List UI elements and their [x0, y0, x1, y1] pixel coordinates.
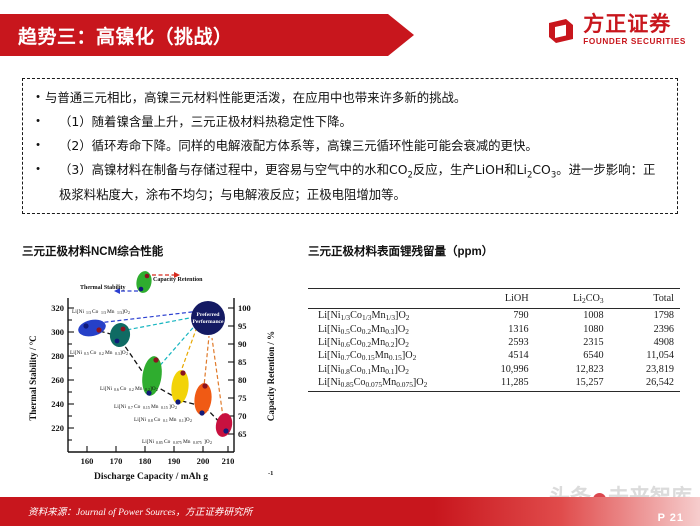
svg-text:220: 220 [51, 423, 64, 433]
svg-text:240: 240 [51, 399, 64, 409]
svg-text:0.5: 0.5 [84, 352, 89, 356]
cell-li2co3: 2315 [535, 336, 610, 349]
svg-text:Li[Ni: Li[Ni [134, 417, 146, 423]
table-row: Li[Ni0.7Co0.15Mn0.15]O24514654011,054 [308, 349, 680, 362]
cell-li2co3: 15,257 [535, 376, 610, 392]
svg-text:90: 90 [238, 339, 247, 349]
svg-text:300: 300 [51, 327, 64, 337]
svg-text:]O: ]O [204, 439, 210, 445]
bullet-marker-icon: • [31, 160, 45, 179]
svg-text:0.6: 0.6 [114, 388, 119, 392]
svg-text:280: 280 [51, 351, 64, 361]
svg-text:Mn: Mn [105, 350, 113, 356]
svg-text:Co: Co [90, 350, 97, 356]
svg-text:85: 85 [238, 357, 247, 367]
svg-text:Mn: Mn [151, 404, 159, 410]
svg-text:210: 210 [222, 456, 235, 466]
svg-text:80: 80 [238, 375, 247, 385]
cell-compound: Li[Ni1/3Co1/3Mn1/3]O2 [308, 309, 464, 323]
table-heading: 三元正极材料表面锂残留量（ppm） [308, 243, 493, 259]
svg-text:160: 160 [81, 456, 94, 466]
figure-heading: 三元正极材料NCM综合性能 [22, 243, 163, 259]
cell-lioh: 2593 [464, 336, 534, 349]
cell-compound: Li[Ni0.7Co0.15Mn0.15]O2 [308, 349, 464, 362]
bullet-text: （3）高镍材料在制备与存储过程中，更容易与空气中的水和CO2反应，生产LiOH和… [45, 160, 665, 204]
svg-text:]O: ]O [169, 404, 175, 410]
svg-text:Performance: Performance [192, 319, 224, 325]
cell-li2co3: 6540 [535, 349, 610, 362]
svg-text:Preferred: Preferred [196, 312, 220, 318]
svg-text:2: 2 [190, 419, 192, 423]
svg-text:0.075: 0.075 [173, 441, 182, 445]
svg-text:Mn: Mn [169, 417, 177, 423]
bullet-marker-icon: • [31, 88, 45, 107]
svg-text:0.2: 0.2 [99, 352, 104, 356]
svg-text:190: 190 [168, 456, 181, 466]
cell-compound: Li[Ni0.5Co0.2Mn0.3]O2 [308, 322, 464, 335]
cell-compound: Li[Ni0.85Co0.075Mn0.075]O2 [308, 376, 464, 392]
cell-total: 26,542 [610, 376, 680, 392]
svg-text:320: 320 [51, 303, 64, 313]
slide-root: 趋势三：高镍化（挑战） 方正证券 FOUNDER SECURITIES •与普通… [0, 0, 700, 526]
cell-li2co3: 1008 [535, 309, 610, 323]
ncm-performance-chart: 320 300 280 260 240 220 Thermal Stabilit… [22, 266, 300, 488]
svg-text:260: 260 [51, 375, 64, 385]
svg-text:Mn: Mn [135, 386, 143, 392]
col-header-compound [308, 289, 464, 309]
svg-text:Li[Ni: Li[Ni [72, 309, 84, 315]
svg-text:Capacity Retention / %: Capacity Retention / % [266, 331, 276, 421]
cell-lioh: 1316 [464, 322, 534, 335]
bullet-item: •（3）高镍材料在制备与存储过程中，更容易与空气中的水和CO2反应，生产LiOH… [31, 160, 665, 204]
svg-text:Co: Co [134, 404, 141, 410]
bullet-list: •与普通三元相比，高镍三元材料性能更活泼，在应用中也带来许多新的挑战。•（1）随… [31, 88, 665, 204]
table-header-row: LiOH Li2CO3 Total [308, 289, 680, 309]
table-row: Li[Ni0.6Co0.2Mn0.2]O2259323154908 [308, 336, 680, 349]
svg-text:0.2: 0.2 [129, 388, 134, 392]
svg-text:0.7: 0.7 [128, 406, 133, 410]
table-body: Li[Ni1/3Co1/3Mn1/3]O279010081798Li[Ni0.5… [308, 309, 680, 392]
svg-text:0.1: 0.1 [163, 419, 168, 423]
key-points-box: •与普通三元相比，高镍三元材料性能更活泼，在应用中也带来许多新的挑战。•（1）随… [22, 78, 678, 214]
svg-text:0.15: 0.15 [143, 406, 150, 410]
svg-text:170: 170 [110, 456, 123, 466]
bullet-marker-icon: • [31, 112, 45, 131]
lithium-residue-table-wrap: LiOH Li2CO3 Total Li[Ni1/3Co1/3Mn1/3]O27… [308, 288, 680, 392]
preferred-performance-marker [191, 301, 225, 335]
cell-li2co3: 1080 [535, 322, 610, 335]
bullet-text: （1）随着镍含量上升，三元正极材料热稳定性下降。 [45, 112, 665, 131]
lithium-residue-table: LiOH Li2CO3 Total Li[Ni1/3Co1/3Mn1/3]O27… [308, 288, 680, 392]
svg-text:Thermal Stability / °C: Thermal Stability / °C [28, 335, 38, 420]
cell-compound: Li[Ni0.8Co0.1Mn0.1]O2 [308, 363, 464, 376]
table-row: Li[Ni0.5Co0.2Mn0.3]O2131610802396 [308, 322, 680, 335]
page-number: P 21 [658, 512, 684, 524]
svg-text:Discharge Capacity / mAh g: Discharge Capacity / mAh g [94, 472, 208, 482]
logo-text-cn: 方正证券 [583, 14, 671, 36]
svg-text:]O: ]O [150, 386, 156, 392]
svg-text:75: 75 [238, 393, 247, 403]
svg-text:Mn: Mn [107, 309, 115, 315]
bullet-text: （2）循环寿命下降。同样的电解液配方体系等，高镍三元循环性能可能会衰减的更快。 [45, 136, 665, 155]
svg-text:Co: Co [120, 386, 127, 392]
bullet-item: •与普通三元相比，高镍三元材料性能更活泼，在应用中也带来许多新的挑战。 [31, 88, 665, 107]
svg-text:95: 95 [238, 321, 247, 331]
svg-text:Mn: Mn [183, 439, 191, 445]
svg-text:0.85: 0.85 [156, 441, 163, 445]
cell-lioh: 10,996 [464, 363, 534, 376]
cell-total: 1798 [610, 309, 680, 323]
svg-text:2: 2 [175, 406, 177, 410]
cell-total: 11,054 [610, 349, 680, 362]
cell-li2co3: 12,823 [535, 363, 610, 376]
svg-text:2: 2 [210, 441, 212, 445]
chart-svg: 320 300 280 260 240 220 Thermal Stabilit… [22, 266, 300, 488]
svg-text:Co: Co [154, 417, 161, 423]
svg-text:Co: Co [92, 309, 99, 315]
cell-lioh: 11,285 [464, 376, 534, 392]
svg-text:-1: -1 [268, 470, 273, 477]
svg-text:Li[Ni: Li[Ni [70, 350, 82, 356]
svg-text:Co: Co [164, 439, 171, 445]
svg-text:]O: ]O [122, 309, 128, 315]
svg-text:Li[Ni: Li[Ni [114, 404, 126, 410]
founder-logo-icon [546, 16, 576, 46]
bullet-text: 与普通三元相比，高镍三元材料性能更活泼，在应用中也带来许多新的挑战。 [45, 88, 665, 107]
svg-text:65: 65 [238, 429, 247, 439]
bullet-marker-icon: • [31, 136, 45, 155]
bullet-item: •（2）循环寿命下降。同样的电解液配方体系等，高镍三元循环性能可能会衰减的更快。 [31, 136, 665, 155]
cell-total: 23,819 [610, 363, 680, 376]
svg-text:0.8: 0.8 [148, 419, 153, 423]
svg-text:]O: ]O [184, 417, 190, 423]
table-row: Li[Ni1/3Co1/3Mn1/3]O279010081798 [308, 309, 680, 323]
cell-lioh: 4514 [464, 349, 534, 362]
col-header-lioh: LiOH [464, 289, 534, 309]
footer-bar: 资料来源：Journal of Power Sources，方正证券研究所 P … [0, 497, 700, 526]
svg-text:2: 2 [156, 388, 158, 392]
svg-text:2: 2 [126, 352, 128, 356]
svg-text:70: 70 [238, 411, 247, 421]
svg-text:Li[Ni: Li[Ni [142, 439, 154, 445]
svg-text:]O: ]O [120, 350, 126, 356]
svg-text:Capacity Retention: Capacity Retention [153, 277, 203, 283]
svg-text:100: 100 [238, 303, 251, 313]
svg-text:1/3: 1/3 [86, 311, 91, 315]
table-row: Li[Ni0.8Co0.1Mn0.1]O210,99612,82323,819 [308, 363, 680, 376]
svg-text:1/3: 1/3 [101, 311, 106, 315]
page-title: 趋势三：高镍化（挑战） [0, 22, 233, 49]
svg-text:Thermal Stability: Thermal Stability [80, 285, 126, 291]
svg-text:0.075: 0.075 [193, 441, 202, 445]
source-citation: 资料来源：Journal of Power Sources，方正证券研究所 [28, 504, 252, 518]
logo-text-en: FOUNDER SECURITIES [583, 36, 686, 47]
cell-compound: Li[Ni0.6Co0.2Mn0.2]O2 [308, 336, 464, 349]
table-row: Li[Ni0.85Co0.075Mn0.075]O211,28515,25726… [308, 376, 680, 392]
col-header-total: Total [610, 289, 680, 309]
cell-total: 2396 [610, 322, 680, 335]
svg-text:200: 200 [197, 456, 210, 466]
svg-text:180: 180 [139, 456, 152, 466]
bullet-item: •（1）随着镍含量上升，三元正极材料热稳定性下降。 [31, 112, 665, 131]
cell-lioh: 790 [464, 309, 534, 323]
svg-text:Li[Ni: Li[Ni [100, 386, 112, 392]
header-banner: 趋势三：高镍化（挑战） [0, 14, 388, 56]
col-header-li2co3: Li2CO3 [535, 289, 610, 309]
cell-total: 4908 [610, 336, 680, 349]
brand-logo: 方正证券 FOUNDER SECURITIES [546, 14, 686, 48]
svg-text:0.15: 0.15 [161, 406, 168, 410]
svg-text:2: 2 [128, 311, 130, 315]
